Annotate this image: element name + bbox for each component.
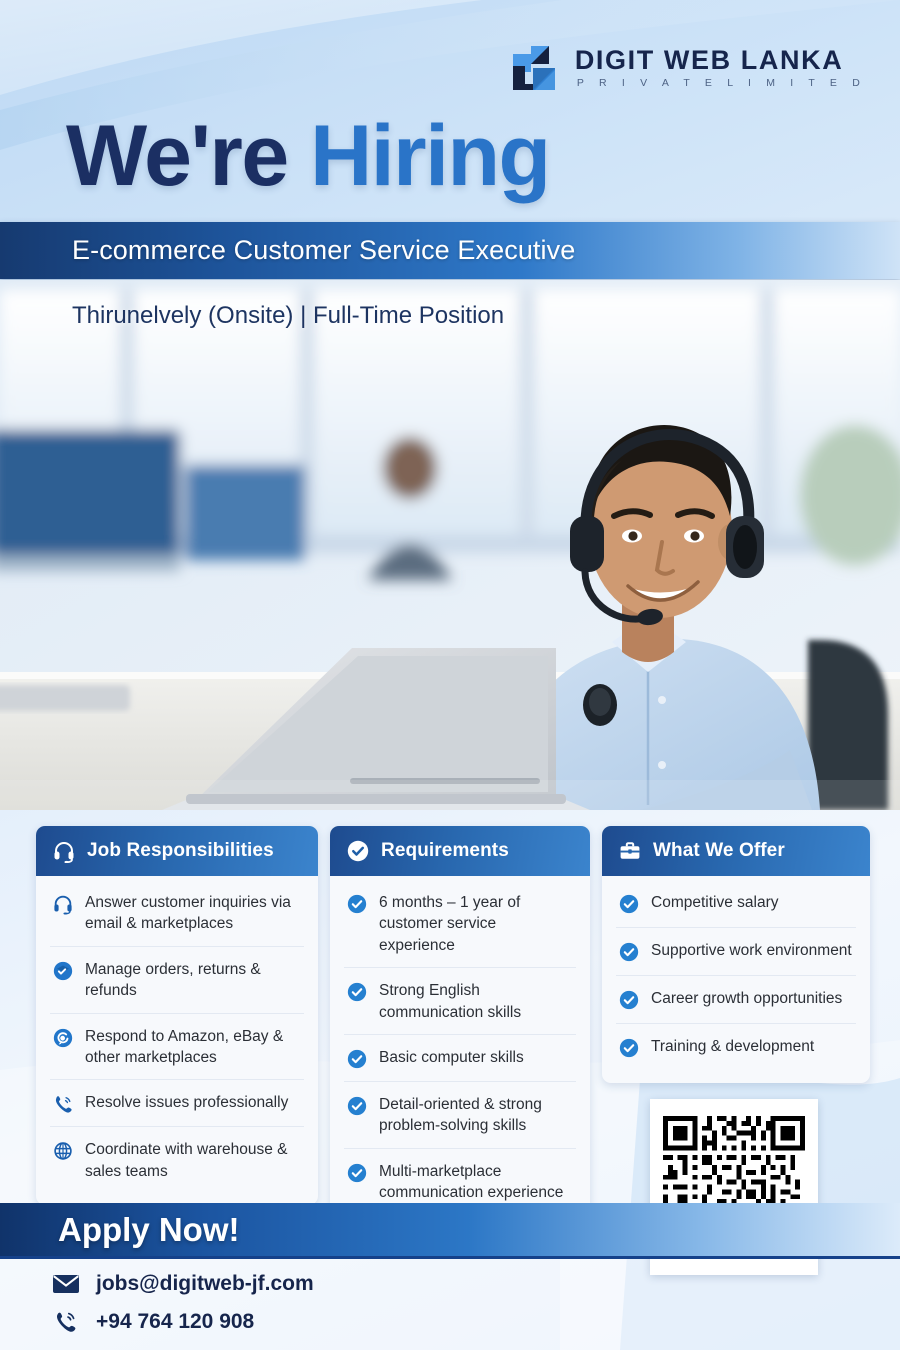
contact-email-row[interactable]: jobs@digitweb-jf.com	[52, 1265, 532, 1303]
job-location: Thirunelvely (Onsite) | Full-Time Positi…	[72, 302, 504, 330]
card-job-responsibilities: Job Responsibilities Answer customer inq…	[36, 826, 318, 1205]
job-title: E-commerce Customer Service Executive	[0, 235, 575, 266]
briefcase-icon	[618, 839, 642, 863]
brand-subtitle: P R I V A T E L I M I T E D	[575, 78, 866, 89]
list-item: Supportive work environment	[616, 928, 856, 976]
list-item: Answer customer inquiries via email & ma…	[50, 880, 304, 947]
list-item-label: Multi-marketplace communication experien…	[379, 1161, 574, 1204]
card-body: 6 months – 1 year of customer service ex…	[330, 876, 590, 1226]
job-title-band: E-commerce Customer Service Executive	[0, 222, 900, 279]
list-item: Resolve issues professionally	[50, 1080, 304, 1127]
phone-call-icon	[52, 1093, 74, 1115]
list-item-label: Career growth opportunities	[651, 988, 842, 1009]
headline-part-1: We're	[66, 108, 288, 204]
check-circle-icon	[618, 941, 640, 963]
phone-icon	[52, 1310, 80, 1334]
check-circle-icon	[346, 1095, 368, 1117]
card-body: Competitive salary Supportive work envir…	[602, 876, 870, 1083]
apply-now-heading: Apply Now!	[0, 1211, 239, 1249]
list-item: Competitive salary	[616, 880, 856, 928]
check-circle-icon	[618, 893, 640, 915]
headline-part-2: Hiring	[310, 108, 549, 204]
card-requirements: Requirements 6 months – 1 year of custom…	[330, 826, 590, 1226]
reply-chat-icon	[52, 1027, 74, 1049]
list-item-label: Resolve issues professionally	[85, 1092, 288, 1113]
list-item: Detail-oriented & strong problem-solving…	[344, 1082, 576, 1149]
headset-icon	[52, 839, 76, 863]
list-item-label: Supportive work environment	[651, 940, 852, 961]
check-circle-icon	[346, 1162, 368, 1184]
contact-details: jobs@digitweb-jf.com +94 764 120 908	[52, 1265, 532, 1341]
office-agent-illustration	[0, 280, 900, 810]
list-item-label: Basic computer skills	[379, 1047, 524, 1068]
card-header: What We Offer	[602, 826, 870, 876]
card-title: What We Offer	[653, 840, 785, 862]
globe-icon	[52, 1140, 74, 1162]
list-item-label: Respond to Amazon, eBay & other marketpl…	[85, 1026, 302, 1069]
contact-phone-row[interactable]: +94 764 120 908	[52, 1303, 532, 1341]
card-title: Requirements	[381, 840, 509, 862]
digit-web-lanka-logo-mark	[509, 44, 561, 92]
apply-now-band: Apply Now!	[0, 1203, 900, 1259]
list-item: Manage orders, returns & refunds	[50, 947, 304, 1014]
list-item-label: Training & development	[651, 1036, 814, 1057]
page-title: We're Hiring	[66, 113, 550, 199]
check-circle-icon	[346, 1048, 368, 1070]
list-item: Strong English communication skills	[344, 968, 576, 1035]
list-item-label: Manage orders, returns & refunds	[85, 959, 302, 1002]
hiring-poster: DIGIT WEB LANKA P R I V A T E L I M I T …	[0, 0, 900, 1350]
card-header: Job Responsibilities	[36, 826, 318, 876]
card-title: Job Responsibilities	[87, 840, 274, 862]
list-item-label: Coordinate with warehouse & sales teams	[85, 1139, 302, 1182]
check-circle-icon	[618, 989, 640, 1011]
list-item: Respond to Amazon, eBay & other marketpl…	[50, 1014, 304, 1081]
list-item: Training & development	[616, 1024, 856, 1071]
brand-logo: DIGIT WEB LANKA P R I V A T E L I M I T …	[509, 44, 866, 92]
list-item: Coordinate with warehouse & sales teams	[50, 1127, 304, 1193]
check-circle-icon	[346, 839, 370, 863]
brand-name: DIGIT WEB LANKA	[575, 47, 866, 74]
hero-photo	[0, 280, 900, 810]
list-item: Career growth opportunities	[616, 976, 856, 1024]
list-item: 6 months – 1 year of customer service ex…	[344, 880, 576, 968]
headset-icon	[52, 893, 74, 915]
check-circle-icon	[618, 1037, 640, 1059]
contact-phone: +94 764 120 908	[96, 1310, 254, 1334]
card-body: Answer customer inquiries via email & ma…	[36, 876, 318, 1205]
card-header: Requirements	[330, 826, 590, 876]
card-what-we-offer: What We Offer Competitive salary Support…	[602, 826, 870, 1083]
check-circle-icon	[346, 981, 368, 1003]
list-item-label: Strong English communication skills	[379, 980, 574, 1023]
check-circle-icon	[346, 893, 368, 915]
contact-email: jobs@digitweb-jf.com	[96, 1272, 314, 1296]
list-item: Basic computer skills	[344, 1035, 576, 1082]
list-item-label: 6 months – 1 year of customer service ex…	[379, 892, 574, 956]
list-item-label: Competitive salary	[651, 892, 779, 913]
envelope-icon	[52, 1272, 80, 1296]
list-item-label: Detail-oriented & strong problem-solving…	[379, 1094, 574, 1137]
list-item-label: Answer customer inquiries via email & ma…	[85, 892, 302, 935]
package-check-icon	[52, 960, 74, 982]
